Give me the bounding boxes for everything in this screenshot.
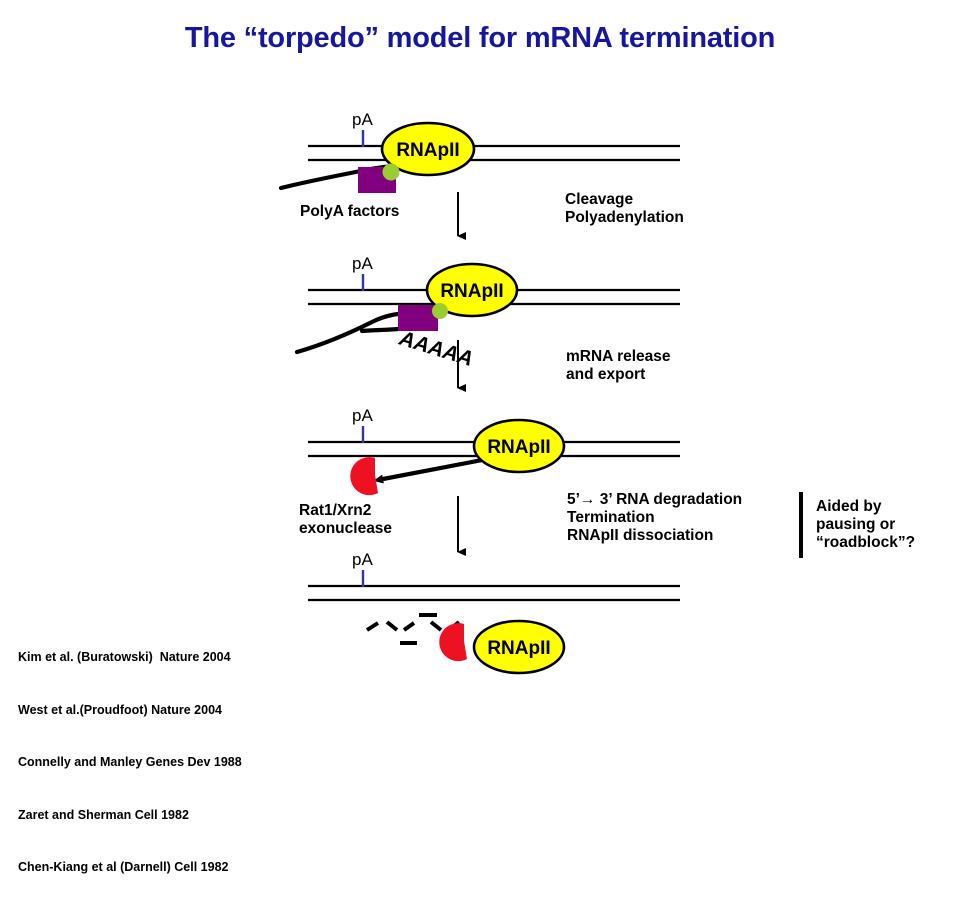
- polymerase-label: RNApII: [487, 437, 550, 458]
- mrna-release-export-caption: mRNA release and export: [566, 348, 671, 384]
- slide-canvas: The “torpedo” model for mRNA termination…: [0, 0, 960, 720]
- stage-4-group: RNApII: [308, 570, 680, 673]
- pa-label-stage-2: pA: [352, 254, 373, 274]
- rat1-xrn2-exonuclease-caption: Rat1/Xrn2 exonuclease: [299, 502, 392, 538]
- exonuclease-pacman: [439, 623, 467, 661]
- polymerase-label: RNApII: [396, 140, 459, 161]
- polya-tail-label: AAAAA: [396, 326, 476, 370]
- polymerase-label: RNApII: [487, 638, 550, 659]
- pa-label-stage-1: pA: [352, 110, 373, 130]
- exonuclease-pacman: [350, 457, 378, 495]
- cleaved-rna-stub: [362, 329, 398, 331]
- pa-label-stage-4: pA: [352, 550, 373, 570]
- reference-item: Chen-Kiang et al (Darnell) Cell 1982: [18, 859, 242, 877]
- released-mrna-strand: [297, 314, 398, 352]
- side-note-bracket: [799, 492, 803, 558]
- cleavage-polyadenylation-caption: Cleavage Polyadenylation: [565, 191, 684, 227]
- polya-factors-caption: PolyA factors: [300, 203, 399, 221]
- diagram-vector-layer: RNApII RNApII AAAAA RNApII: [0, 0, 960, 720]
- reference-item: Connelly and Manley Genes Dev 1988: [18, 754, 242, 772]
- reference-item: West et al.(Proudfoot) Nature 2004: [18, 702, 242, 720]
- pa-label-stage-3: pA: [352, 406, 373, 426]
- reference-item: Zaret and Sherman Cell 1982: [18, 807, 242, 825]
- ctd-phosphate-dot: [432, 303, 448, 319]
- side-note-caption: Aided by pausing or “roadblock”?: [816, 498, 915, 552]
- references-list: Kim et al. (Buratowski) Nature 2004 West…: [18, 614, 242, 912]
- degradation-termination-caption: 5’→ 3’ RNA degradation Termination RNApI…: [567, 491, 742, 545]
- ctd-phosphate-dot: [383, 164, 400, 181]
- polymerase-label: RNApII: [440, 281, 503, 302]
- reference-item: Kim et al. (Buratowski) Nature 2004: [18, 649, 242, 667]
